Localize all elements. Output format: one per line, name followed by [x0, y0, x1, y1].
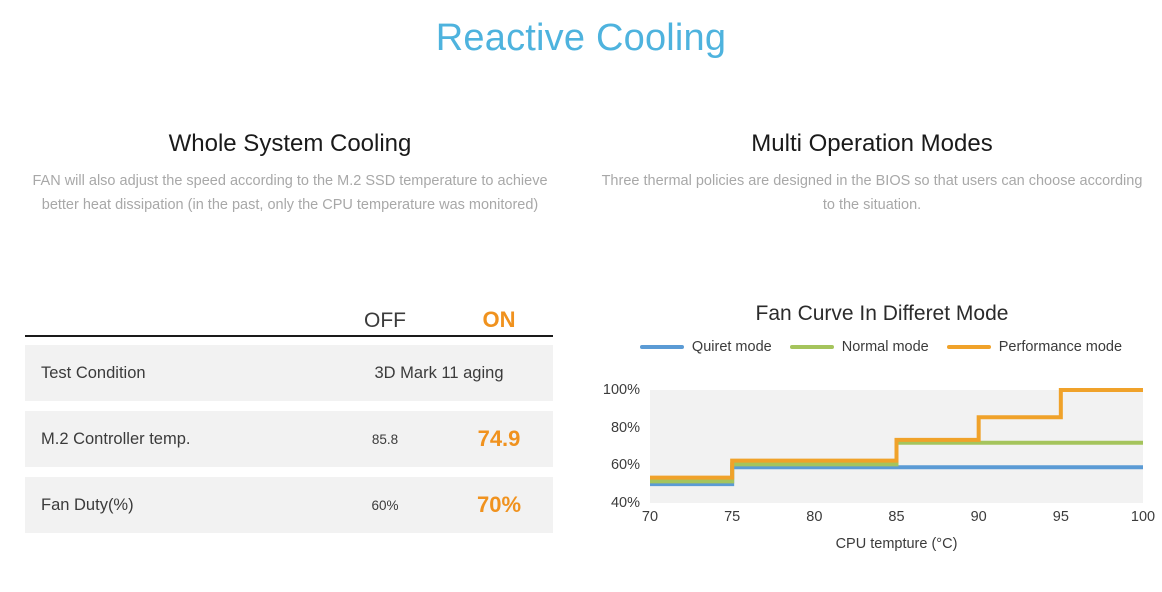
left-section-title: Whole System Cooling	[0, 128, 580, 160]
table-cell-off-value: 85.8	[325, 432, 445, 447]
chart-title: Fan Curve In Differet Mode	[582, 300, 1162, 327]
chart-plot-area: 40%60%80%100% 707580859095100 CPU temptu…	[582, 378, 1162, 568]
legend-swatch-icon	[947, 345, 991, 349]
table-cell-label: M.2 Controller temp.	[25, 430, 325, 449]
chart-legend: Quiret modeNormal modePerformance mode	[582, 339, 1162, 355]
right-section-description: Three thermal policies are designed in t…	[600, 170, 1145, 217]
comparison-table: OFF ON Test Condition 3D Mark 11 aging M…	[25, 293, 553, 543]
table-cell-label: Test Condition	[25, 364, 325, 383]
legend-label: Performance mode	[999, 339, 1122, 355]
legend-item[interactable]: Performance mode	[947, 339, 1122, 355]
page-title: Reactive Cooling	[0, 14, 1162, 63]
right-section-title: Multi Operation Modes	[582, 128, 1162, 160]
left-section: Whole System Cooling FAN will also adjus…	[0, 128, 580, 217]
table-cell-label: Fan Duty(%)	[25, 496, 325, 515]
legend-item[interactable]: Normal mode	[790, 339, 929, 355]
legend-label: Quiret mode	[692, 339, 772, 355]
table-cell-off-value: 60%	[325, 498, 445, 513]
table-row: Test Condition 3D Mark 11 aging	[25, 345, 553, 401]
legend-swatch-icon	[790, 345, 834, 349]
table-divider	[25, 335, 553, 337]
table-cell-merged-value: 3D Mark 11 aging	[325, 364, 553, 383]
right-section: Multi Operation Modes Three thermal poli…	[582, 128, 1162, 217]
table-cell-on-value: 74.9	[445, 426, 553, 452]
chart-x-axis-title: CPU tempture (°C)	[650, 536, 1143, 552]
legend-label: Normal mode	[842, 339, 929, 355]
fan-curve-chart: Fan Curve In Differet Mode Quiret modeNo…	[582, 300, 1162, 570]
table-header-on: ON	[445, 307, 553, 333]
table-row: M.2 Controller temp. 85.8 74.9	[25, 411, 553, 467]
table-cell-on-value: 70%	[445, 492, 553, 518]
table-header-off: OFF	[325, 309, 445, 333]
legend-item[interactable]: Quiret mode	[640, 339, 772, 355]
left-section-description: FAN will also adjust the speed according…	[18, 170, 563, 217]
table-header-row: OFF ON	[25, 293, 553, 335]
table-row: Fan Duty(%) 60% 70%	[25, 477, 553, 533]
legend-swatch-icon	[640, 345, 684, 349]
